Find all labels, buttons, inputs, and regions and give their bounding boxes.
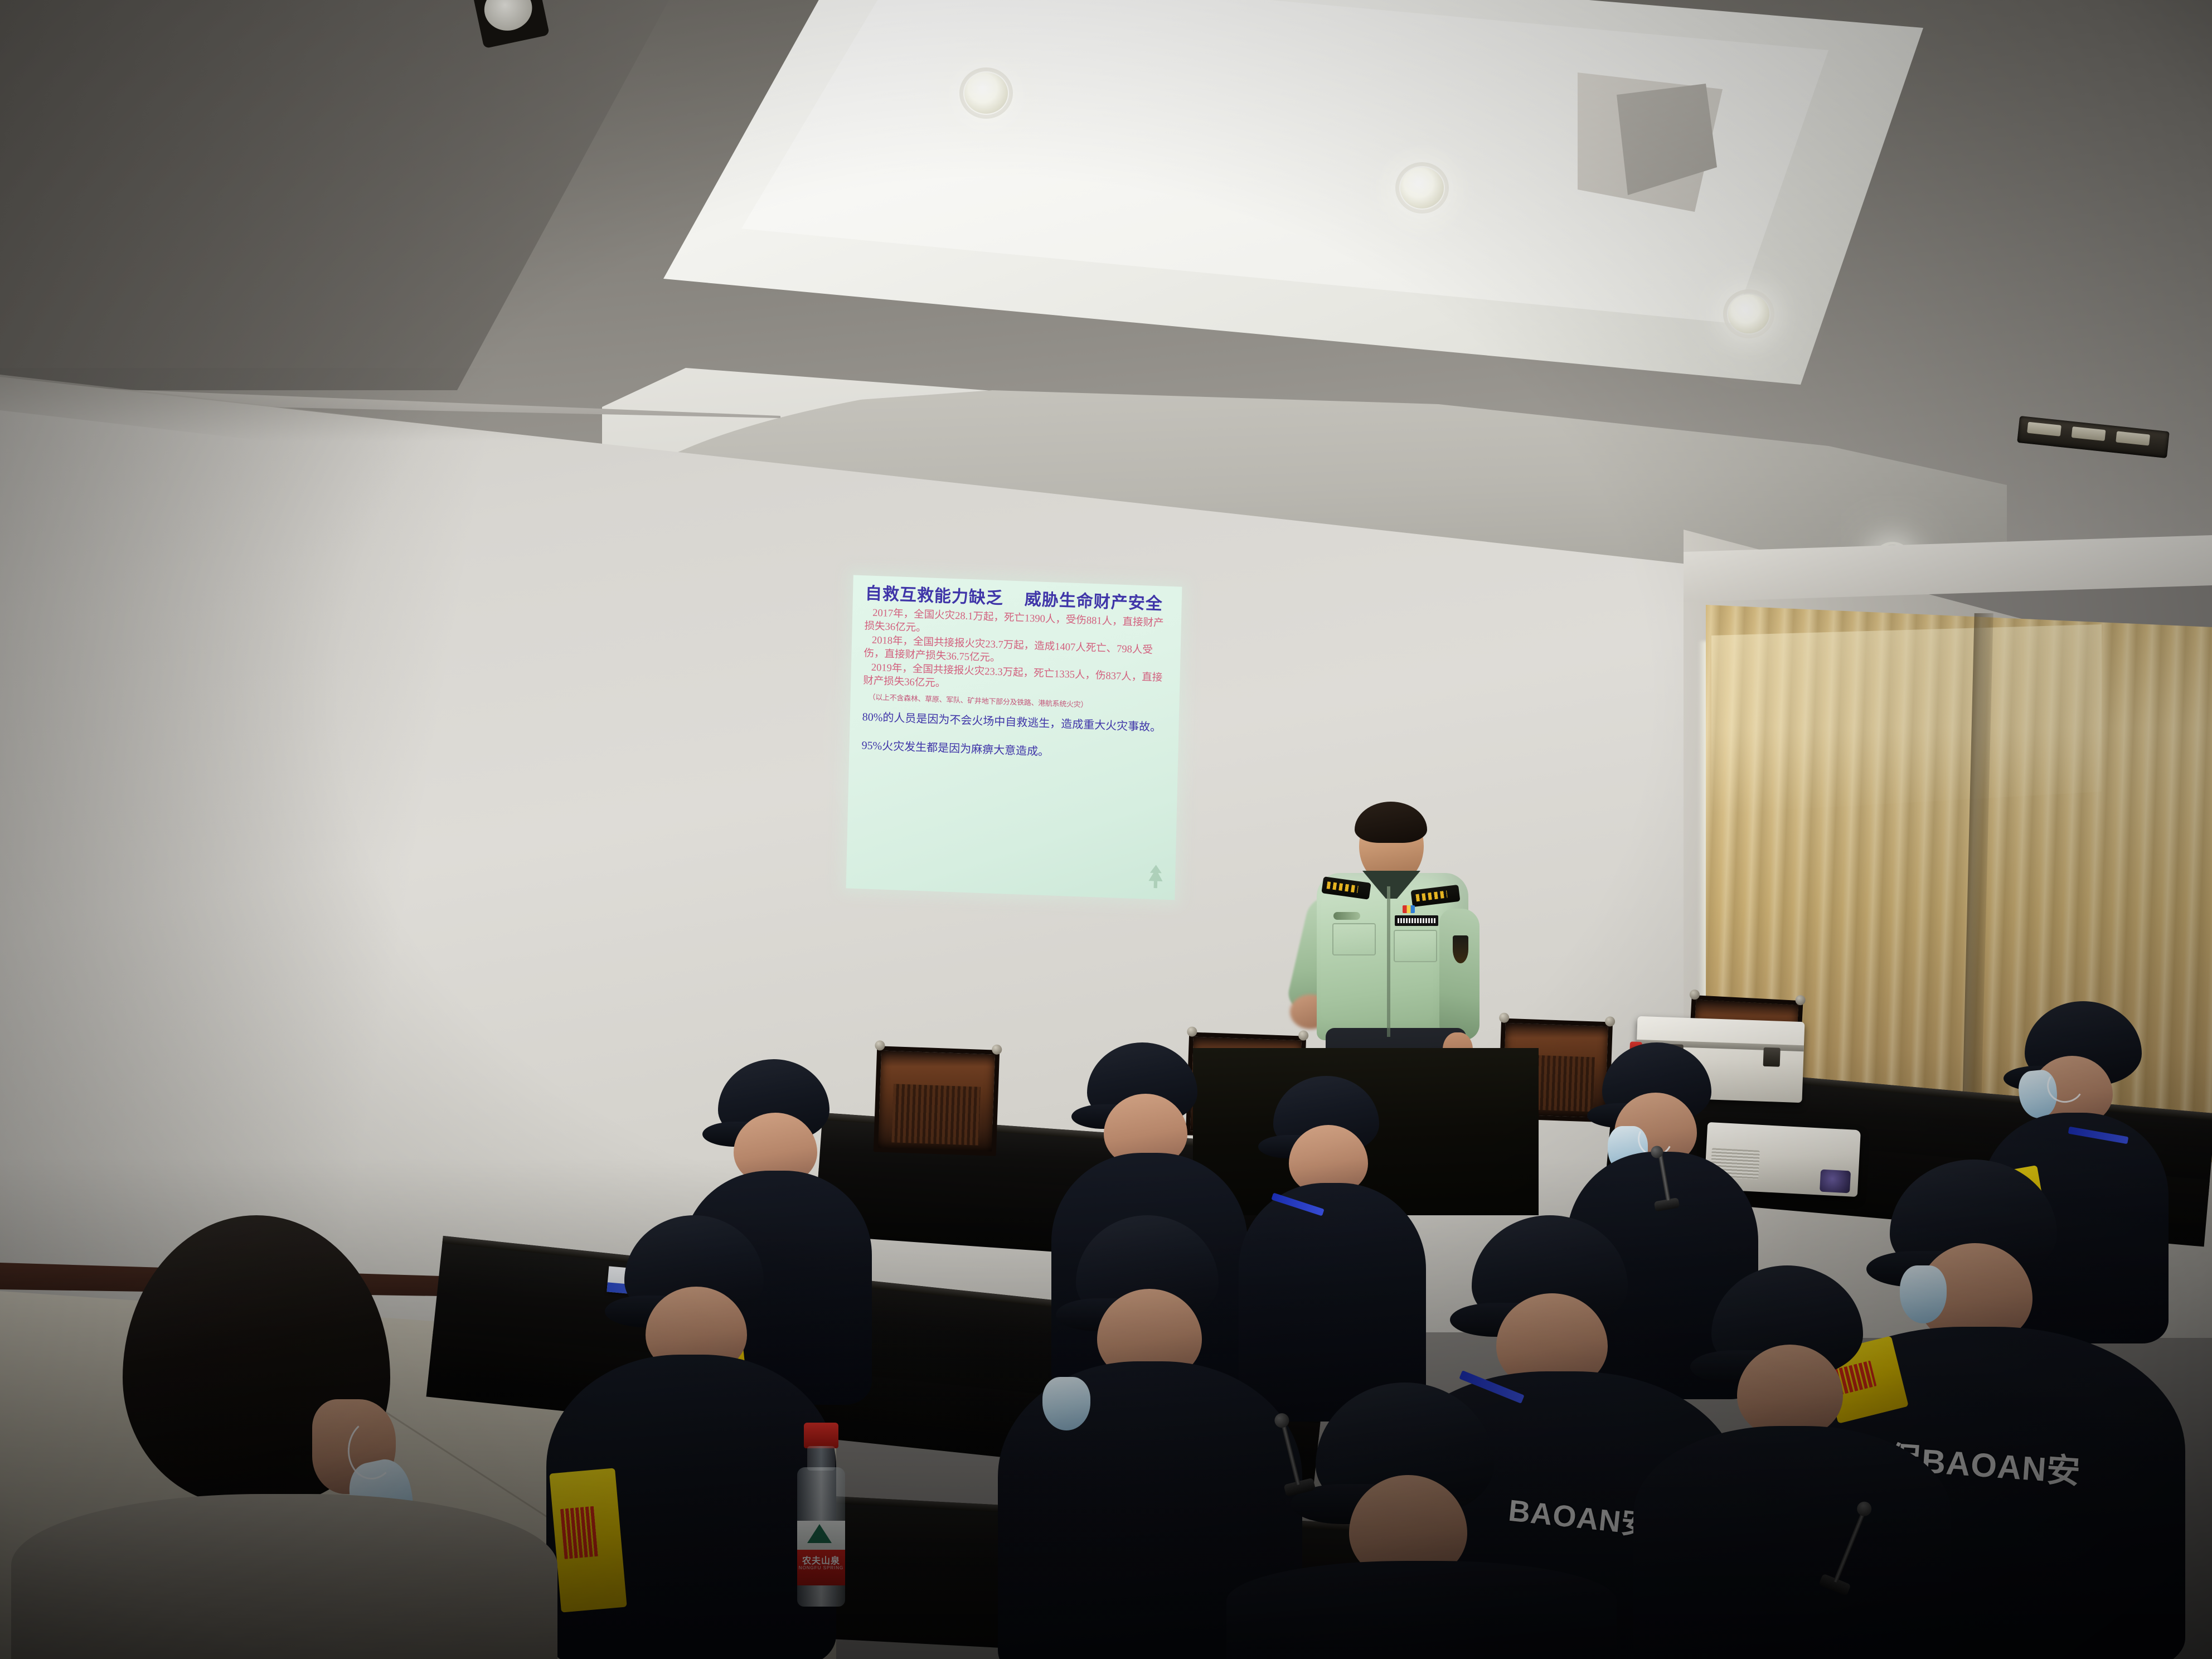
- presenter-name-tag: [1395, 915, 1438, 926]
- torso: [1226, 1561, 1617, 1659]
- downlight-bulb: [1728, 294, 1769, 333]
- wooden-chair: [874, 1046, 1000, 1156]
- mountain-logo-icon: [807, 1524, 832, 1543]
- slide-title-left: 自救互救能力缺乏: [865, 585, 1004, 607]
- presenter-sleeve-patch: [1453, 935, 1468, 963]
- downlight-bulb: [964, 72, 1008, 114]
- tree-watermark-icon: [1144, 863, 1168, 889]
- recessed-downlight: [1728, 294, 1769, 333]
- recessed-downlight: [964, 72, 1008, 114]
- water-bottle: 农夫山泉 NONGFU SPRING: [790, 1423, 852, 1607]
- foreground-attendee-jacket: [11, 1494, 557, 1659]
- torso: [1633, 1426, 1951, 1659]
- audience-member: [1650, 1265, 1929, 1659]
- linear-light-segment: [2116, 431, 2150, 445]
- clock-face: [480, 0, 536, 35]
- bottle-brand: 农夫山泉: [790, 1553, 852, 1566]
- slide-body: 2017年，全国火灾28.1万起，死亡1390人，受伤881人，直接财产损失36…: [863, 606, 1172, 698]
- curtain-highlight: [1711, 624, 2102, 814]
- presenter-chest-pocket: [1332, 923, 1376, 955]
- bottle-cap: [804, 1423, 838, 1448]
- wall-shadow: [0, 368, 502, 1316]
- flag-pin-icon: [1403, 905, 1415, 913]
- presenter-hair: [1355, 802, 1427, 843]
- downlight-bulb: [1400, 167, 1444, 208]
- surgical-mask: [1042, 1377, 1090, 1430]
- linear-light-segment: [2072, 426, 2106, 441]
- presenter-shirt-placket: [1387, 886, 1390, 1037]
- bottle-brand-latin: NONGFU SPRING: [790, 1565, 852, 1570]
- presenter-chest-insignia: [1333, 912, 1360, 920]
- projected-slide: 自救互救能力缺乏 威胁生命财产安全 2017年，全国火灾28.1万起，死亡139…: [846, 575, 1182, 900]
- linear-light-segment: [2027, 422, 2061, 436]
- audience-member: [569, 1215, 814, 1659]
- slide-title-right: 威胁生命财产安全: [1024, 591, 1163, 613]
- presenter-chest-pocket: [1394, 930, 1437, 962]
- yellow-armband: [549, 1468, 627, 1612]
- recessed-downlight: [1400, 167, 1444, 208]
- slide-statistic: 80%的人员是因为不会火场中自救逃生，造成重大火灾事故。: [862, 711, 1170, 735]
- foreground-attendee: [72, 1215, 552, 1659]
- presenter-right-arm: [1439, 909, 1479, 1040]
- classroom-scene: 自救互救能力缺乏 威胁生命财产安全 2017年，全国火灾28.1万起，死亡139…: [0, 0, 2212, 1659]
- slide-statistic: 95%火灾发生都是因为麻痹大意造成。: [861, 739, 1169, 763]
